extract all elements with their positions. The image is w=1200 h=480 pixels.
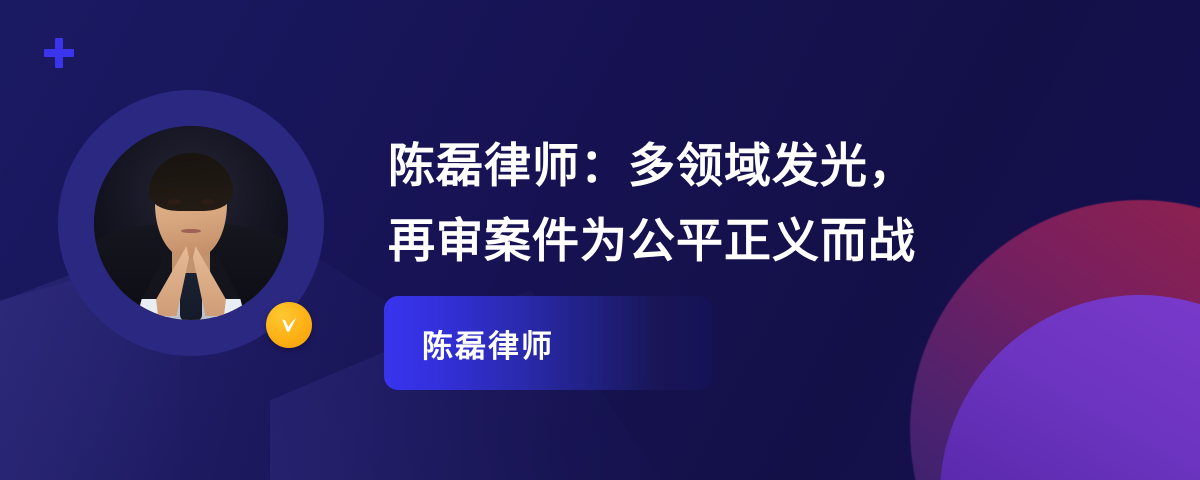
portrait-eyebrow-left <box>165 190 182 194</box>
verified-check-icon <box>266 302 312 348</box>
avatar-photo <box>94 126 288 320</box>
plus-icon-vertical-bar <box>55 38 63 68</box>
page-title-line-1: 陈磊律师：多领域发光， <box>388 128 1148 203</box>
portrait-eye-left <box>167 199 182 205</box>
plus-icon <box>44 38 74 68</box>
avatar[interactable] <box>58 90 324 356</box>
article-banner: 陈磊律师：多领域发光， 再审案件为公平正义而战 陈磊律师 <box>0 0 1200 480</box>
page-title-line-2: 再审案件为公平正义而战 <box>388 203 1148 278</box>
headline-block: 陈磊律师：多领域发光， 再审案件为公平正义而战 <box>388 128 1148 278</box>
portrait-eyebrow-right <box>200 190 217 194</box>
author-name-button[interactable]: 陈磊律师 <box>384 296 712 390</box>
portrait-eye-right <box>201 199 216 205</box>
page-title: 陈磊律师：多领域发光， 再审案件为公平正义而战 <box>388 128 1148 278</box>
